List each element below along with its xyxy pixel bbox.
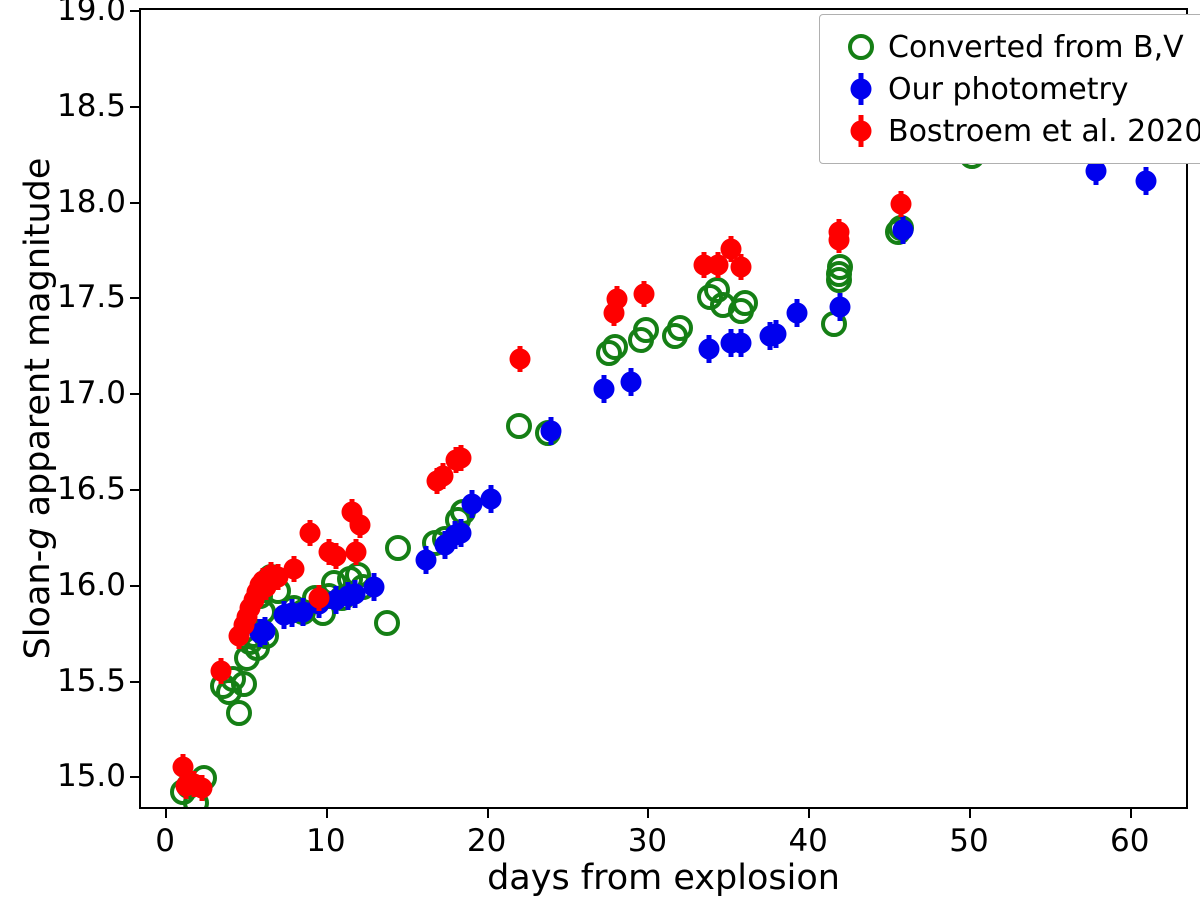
legend-label-our-photometry: Our photometry — [888, 72, 1129, 107]
y-axis-tick — [130, 393, 141, 395]
x-axis-tick-label: 10 — [306, 823, 345, 859]
data-point — [450, 523, 471, 544]
data-point — [667, 315, 693, 341]
data-point — [346, 542, 367, 563]
data-point — [893, 220, 914, 241]
scatter-plot-figure: 15.015.516.016.517.017.518.018.519.00102… — [0, 0, 1200, 912]
legend-box: Converted from B,V Our photometry Bostro… — [819, 14, 1200, 164]
x-axis-tick — [165, 807, 167, 818]
x-axis-tick — [1130, 807, 1132, 818]
x-axis-tick — [326, 807, 328, 818]
y-axis-tick — [130, 10, 141, 12]
x-axis-tick — [487, 807, 489, 818]
y-axis-tick — [130, 585, 141, 587]
data-point — [283, 559, 304, 580]
x-axis-label: days from explosion — [139, 858, 1188, 898]
y-axis-label-italic-g: g — [18, 528, 58, 550]
y-axis-label-suffix: apparent magnitude — [18, 158, 58, 528]
x-axis-tick-label: 50 — [949, 823, 988, 859]
data-point — [594, 379, 615, 400]
data-point — [602, 334, 628, 360]
x-axis-tick — [647, 807, 649, 818]
data-point — [1135, 170, 1156, 191]
open-circle-marker-icon — [834, 26, 888, 68]
data-point — [634, 283, 655, 304]
y-axis-tick — [130, 776, 141, 778]
data-point — [211, 660, 232, 681]
data-point — [364, 576, 385, 597]
x-axis-tick-label: 0 — [155, 823, 175, 859]
data-point — [633, 317, 659, 343]
data-point — [231, 671, 257, 697]
x-axis-tick-label: 40 — [788, 823, 827, 859]
data-point — [830, 296, 851, 317]
data-point — [344, 584, 365, 605]
data-point — [462, 494, 483, 515]
data-point — [621, 371, 642, 392]
legend-label-bostroem: Bostroem et al. 2020 — [888, 114, 1200, 149]
data-point — [732, 290, 758, 316]
legend-label-converted: Converted from B,V — [888, 30, 1184, 65]
data-point — [698, 339, 719, 360]
y-axis-tick — [130, 106, 141, 108]
data-point — [730, 256, 751, 277]
x-axis-tick-label: 60 — [1110, 823, 1149, 859]
filled-circle-marker-red-icon — [834, 110, 888, 152]
data-point — [325, 546, 346, 567]
data-point — [374, 610, 400, 636]
x-axis-tick-label: 30 — [628, 823, 667, 859]
data-point — [481, 488, 502, 509]
y-axis-tick — [130, 202, 141, 204]
data-point — [540, 421, 561, 442]
data-point — [510, 348, 531, 369]
data-point — [506, 413, 532, 439]
data-point — [766, 323, 787, 344]
legend-entry-our-photometry: Our photometry — [834, 68, 1200, 110]
data-point — [254, 620, 275, 641]
data-point — [299, 523, 320, 544]
legend-entry-converted: Converted from B,V — [834, 26, 1200, 68]
y-axis-label-prefix: Sloan- — [18, 550, 58, 660]
data-point — [192, 777, 213, 798]
y-axis-label: Sloan-g apparent magnitude — [18, 8, 58, 809]
data-point — [828, 222, 849, 243]
data-point — [415, 549, 436, 570]
data-point — [891, 193, 912, 214]
y-axis-tick — [130, 681, 141, 683]
data-point — [786, 302, 807, 323]
data-point — [606, 289, 627, 310]
filled-circle-marker-blue-icon — [834, 68, 888, 110]
legend-entry-bostroem: Bostroem et al. 2020 — [834, 110, 1200, 152]
data-point — [450, 448, 471, 469]
y-axis-tick — [130, 297, 141, 299]
x-axis-tick-label: 20 — [467, 823, 506, 859]
data-point — [309, 588, 330, 609]
data-point — [226, 700, 252, 726]
data-point — [385, 535, 411, 561]
y-axis-tick — [130, 489, 141, 491]
x-axis-tick — [808, 807, 810, 818]
x-axis-tick — [969, 807, 971, 818]
data-point — [349, 515, 370, 536]
data-point — [827, 254, 853, 280]
data-point — [730, 333, 751, 354]
